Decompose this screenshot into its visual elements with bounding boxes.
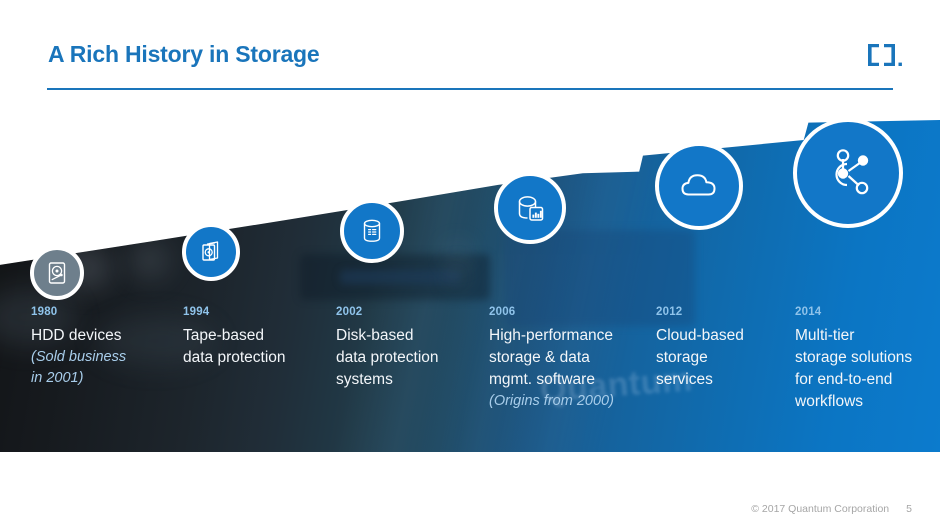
network-nodes-icon: [817, 142, 879, 204]
cloud-icon: [674, 161, 724, 211]
timeline-description: High-performance storage & data mgmt. so…: [489, 325, 649, 391]
timeline-bubble-1994[interactable]: [182, 223, 240, 281]
title-divider: [47, 88, 893, 90]
timeline-label-1980: 1980 HDD devices (Sold business in 2001): [31, 306, 171, 388]
timeline-description: Cloud-based storage services: [656, 325, 796, 391]
timeline-label-2006: 2006 High-performance storage & data mgm…: [489, 306, 649, 412]
timeline-label-2002: 2002 Disk-based data protection systems: [336, 306, 486, 391]
timeline-bubble-2006[interactable]: [494, 172, 566, 244]
timeline-year: 1994: [183, 306, 333, 318]
page-number: 5: [906, 503, 912, 515]
slide-canvas: A Rich History in Storage Quantum: [0, 0, 940, 528]
timeline-description: Disk-based data protection systems: [336, 325, 486, 391]
timeline-description: HDD devices: [31, 325, 171, 347]
quantum-logo: [866, 42, 908, 68]
timeline-label-1994: 1994 Tape-based data protection: [183, 306, 333, 369]
timeline-year: 2012: [656, 306, 796, 318]
timeline-bubble-1980[interactable]: [30, 246, 84, 300]
database-analytics-icon: [510, 188, 550, 228]
timeline-year: 2014: [795, 306, 935, 318]
disk-cylinder-icon: [355, 214, 389, 248]
timeline-year: 1980: [31, 306, 171, 318]
timeline-label-2012: 2012 Cloud-based storage services: [656, 306, 796, 391]
copyright-text: © 2017 Quantum Corporation: [751, 503, 889, 515]
timeline-year: 2006: [489, 306, 649, 318]
timeline-description: Tape-based data protection: [183, 325, 333, 369]
timeline-bubble-2012[interactable]: [655, 142, 743, 230]
timeline-label-2014: 2014 Multi-tier storage solutions for en…: [795, 306, 935, 413]
hard-disk-drive-icon: [44, 260, 70, 286]
timeline-year: 2002: [336, 306, 486, 318]
tape-cartridges-icon: [196, 237, 226, 267]
timeline-bubble-2002[interactable]: [340, 199, 404, 263]
timeline-note: (Origins from 2000): [489, 391, 649, 412]
timeline-note: (Sold business in 2001): [31, 347, 171, 388]
timeline-bubble-2014[interactable]: [793, 118, 903, 228]
timeline-description: Multi-tier storage solutions for end-to-…: [795, 325, 935, 413]
page-title: A Rich History in Storage: [48, 41, 319, 68]
slide-footer: © 2017 Quantum Corporation 5: [751, 503, 912, 515]
